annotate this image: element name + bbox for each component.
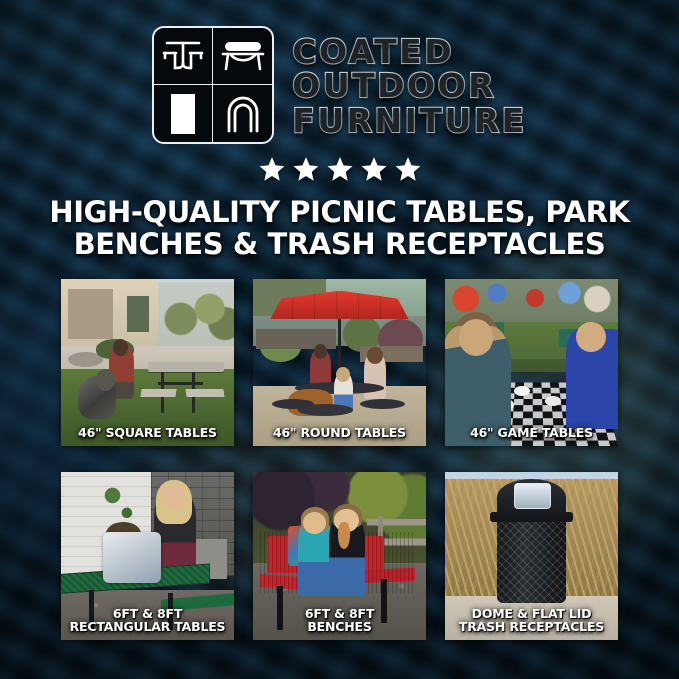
product-caption: 46" SQUARE TABLES (61, 426, 234, 440)
product-caption-line-2: RECTANGULAR TABLES (64, 620, 231, 634)
product-tile-rectangular-tables[interactable]: 6FT & 8FT RECTANGULAR TABLES (61, 472, 234, 640)
star-icon (361, 156, 387, 182)
picnic-table-icon (154, 28, 213, 85)
product-caption-line-1: 46" GAME TABLES (470, 425, 593, 440)
product-tile-game-tables[interactable]: 46" GAME TABLES (445, 279, 618, 446)
star-rating (259, 156, 421, 182)
product-tile-square-tables[interactable]: 46" SQUARE TABLES (61, 279, 234, 446)
product-tile-benches[interactable]: 6FT & 8FT BENCHES (253, 472, 426, 640)
star-icon (395, 156, 421, 182)
product-tile-round-tables[interactable]: 46" ROUND TABLES (253, 279, 426, 446)
logo-word-3: FURNITURE (292, 104, 526, 138)
trash-receptacle-icon (154, 85, 213, 142)
star-icon (259, 156, 285, 182)
product-caption: DOME & FLAT LID TRASH RECEPTACLES (445, 607, 618, 634)
logo-wordmark: COATED OUTDOOR FURNITURE (292, 33, 526, 138)
product-poster: COATED OUTDOOR FURNITURE HIGH-QUALITY PI… (0, 0, 679, 679)
product-caption: 46" GAME TABLES (445, 426, 618, 440)
product-photo-game-tables (445, 279, 618, 446)
product-caption: 46" ROUND TABLES (253, 426, 426, 440)
product-photo-square-tables (61, 279, 234, 446)
product-caption: 6FT & 8FT BENCHES (253, 607, 426, 634)
headline-line-2: BENCHES & TRASH RECEPTACLES (40, 228, 640, 260)
product-grid: 46" SQUARE TABLES (61, 279, 618, 640)
product-photo-round-tables (253, 279, 426, 446)
logo-word-2: OUTDOOR (292, 69, 526, 103)
star-icon (327, 156, 353, 182)
product-caption: 6FT & 8FT RECTANGULAR TABLES (61, 607, 234, 634)
product-caption-line-2: BENCHES (256, 620, 423, 634)
product-tile-trash-receptacles[interactable]: DOME & FLAT LID TRASH RECEPTACLES (445, 472, 618, 640)
star-icon (293, 156, 319, 182)
bike-rack-icon (213, 85, 272, 142)
park-bench-icon (213, 28, 272, 85)
logo-word-1: COATED (292, 35, 526, 69)
brand-logo: COATED OUTDOOR FURNITURE (152, 24, 526, 146)
product-caption-line-1: 46" ROUND TABLES (273, 425, 406, 440)
headline-line-1: HIGH-QUALITY PICNIC TABLES, PARK (49, 195, 629, 229)
logo-icon-grid (152, 26, 274, 144)
product-caption-line-1: 46" SQUARE TABLES (78, 425, 217, 440)
product-caption-line-2: TRASH RECEPTACLES (448, 620, 615, 634)
headline: HIGH-QUALITY PICNIC TABLES, PARK BENCHES… (40, 196, 640, 261)
